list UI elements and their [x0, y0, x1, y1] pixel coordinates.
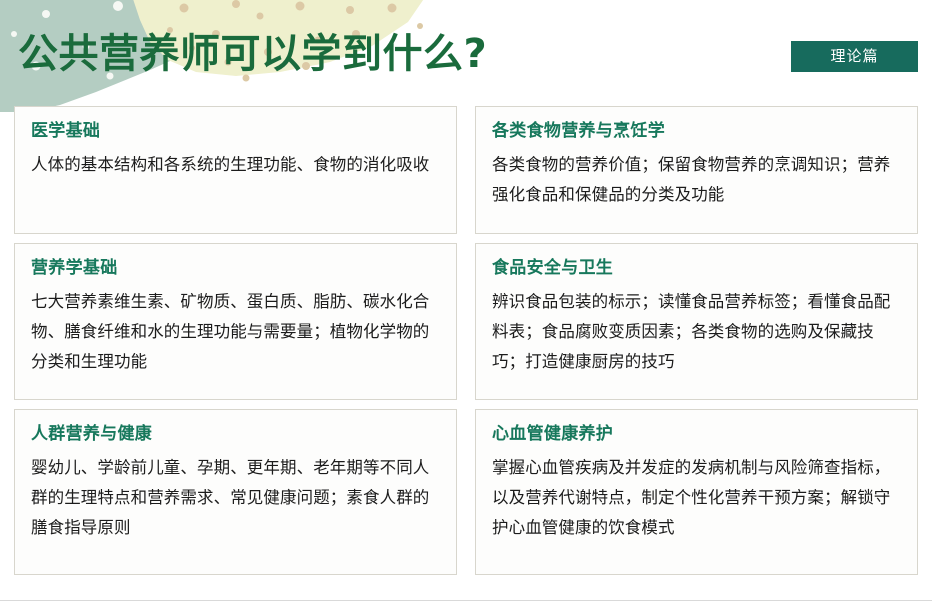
card-heading: 人群营养与健康 [31, 424, 440, 444]
card-heading: 食品安全与卫生 [492, 258, 901, 278]
card-body: 各类食物的营养价值；保留食物营养的烹调知识；营养强化食品和保健品的分类及功能 [492, 150, 901, 210]
card-heading: 营养学基础 [31, 258, 440, 278]
card-medical-basics: 医学基础 人体的基本结构和各系统的生理功能、食物的消化吸收 [14, 106, 457, 234]
card-body: 人体的基本结构和各系统的生理功能、食物的消化吸收 [31, 150, 440, 180]
card-nutrition-basics: 营养学基础 七大营养素维生素、矿物质、蛋白质、脂肪、碳水化合物、膳食纤维和水的生… [14, 243, 457, 400]
card-body: 掌握心血管疾病及并发症的发病机制与风险筛查指标，以及营养代谢特点，制定个性化营养… [492, 453, 901, 543]
header: 公共营养师可以学到什么? 理论篇 [0, 0, 932, 100]
card-heading: 各类食物营养与烹饪学 [492, 121, 901, 141]
card-grid: 医学基础 人体的基本结构和各系统的生理功能、食物的消化吸收 各类食物营养与烹饪学… [14, 106, 918, 575]
card-heading: 心血管健康养护 [492, 424, 901, 444]
status-badge: 理论篇 [791, 41, 918, 72]
card-heading: 医学基础 [31, 121, 440, 141]
slide-canvas: 公共营养师可以学到什么? 理论篇 医学基础 人体的基本结构和各系统的生理功能、食… [0, 0, 932, 607]
card-body: 婴幼儿、学龄前儿童、孕期、更年期、老年期等不同人群的生理特点和营养需求、常见健康… [31, 453, 440, 543]
card-food-safety-hygiene: 食品安全与卫生 辨识食品包装的标示；读懂食品营养标签；看懂食品配料表；食品腐败变… [475, 243, 918, 400]
page-title: 公共营养师可以学到什么? [18, 34, 487, 74]
card-body: 辨识食品包装的标示；读懂食品营养标签；看懂食品配料表；食品腐败变质因素；各类食物… [492, 287, 901, 377]
card-body: 七大营养素维生素、矿物质、蛋白质、脂肪、碳水化合物、膳食纤维和水的生理功能与需要… [31, 287, 440, 377]
card-population-nutrition-health: 人群营养与健康 婴幼儿、学龄前儿童、孕期、更年期、老年期等不同人群的生理特点和营… [14, 409, 457, 575]
card-food-nutrition-cooking: 各类食物营养与烹饪学 各类食物的营养价值；保留食物营养的烹调知识；营养强化食品和… [475, 106, 918, 234]
footer-divider [0, 600, 932, 601]
card-cardiovascular-health: 心血管健康养护 掌握心血管疾病及并发症的发病机制与风险筛查指标，以及营养代谢特点… [475, 409, 918, 575]
